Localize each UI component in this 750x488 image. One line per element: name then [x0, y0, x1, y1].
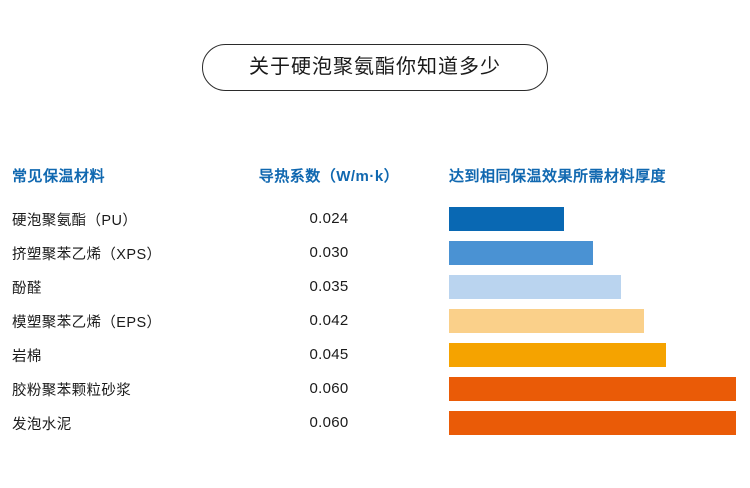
thickness-bar — [449, 411, 736, 435]
column-header-material: 常见保温材料 — [12, 168, 105, 185]
cell-material-name: 发泡水泥 — [0, 413, 220, 434]
material-label: 发泡水泥 — [12, 417, 72, 433]
bar-track — [449, 275, 750, 299]
cell-material-name: 胶粉聚苯颗粒砂浆 — [0, 379, 220, 400]
column-header-thickness: 达到相同保温效果所需材料厚度 — [449, 168, 666, 185]
cell-conductivity-value: 0.035 — [220, 278, 438, 296]
table-row: 酚醛0.035 — [0, 270, 750, 304]
thickness-bar — [449, 343, 666, 367]
cell-conductivity-value: 0.045 — [220, 346, 438, 364]
material-label: 挤塑聚苯乙烯（XPS） — [12, 247, 161, 263]
cell-thickness-bar — [438, 207, 750, 231]
thickness-bar — [449, 309, 644, 333]
table-header-row: 常见保温材料 导热系数（W/m·k） 达到相同保温效果所需材料厚度 — [0, 152, 750, 186]
conductivity-value: 0.035 — [309, 278, 348, 295]
bar-track — [449, 343, 750, 367]
table-row: 硬泡聚氨酯（PU）0.024 — [0, 202, 750, 236]
material-label: 模塑聚苯乙烯（EPS） — [12, 315, 161, 331]
table-row: 岩棉0.045 — [0, 338, 750, 372]
bar-track — [449, 377, 750, 401]
thickness-bar — [449, 377, 736, 401]
bar-track — [449, 309, 750, 333]
cell-thickness-bar — [438, 309, 750, 333]
cell-material-name: 挤塑聚苯乙烯（XPS） — [0, 243, 220, 264]
table-body: 硬泡聚氨酯（PU）0.024挤塑聚苯乙烯（XPS）0.030酚醛0.035模塑聚… — [0, 202, 750, 440]
conductivity-value: 0.024 — [309, 210, 348, 227]
material-label: 硬泡聚氨酯（PU） — [12, 213, 137, 229]
cell-thickness-bar — [438, 343, 750, 367]
cell-conductivity-value: 0.042 — [220, 312, 438, 330]
cell-thickness-bar — [438, 241, 750, 265]
conductivity-value: 0.060 — [309, 414, 348, 431]
cell-conductivity-value: 0.024 — [220, 210, 438, 228]
bar-track — [449, 207, 750, 231]
cell-material-name: 酚醛 — [0, 277, 220, 298]
table-row: 发泡水泥0.060 — [0, 406, 750, 440]
insulation-comparison-table: 常见保温材料 导热系数（W/m·k） 达到相同保温效果所需材料厚度 硬泡聚氨酯（… — [0, 152, 750, 440]
cell-thickness-bar — [438, 411, 750, 435]
table-row: 挤塑聚苯乙烯（XPS）0.030 — [0, 236, 750, 270]
material-label: 胶粉聚苯颗粒砂浆 — [12, 383, 131, 399]
column-header-conductivity: 导热系数（W/m·k） — [259, 168, 400, 185]
material-label: 酚醛 — [12, 281, 42, 297]
cell-conductivity-value: 0.060 — [220, 414, 438, 432]
cell-thickness-bar — [438, 275, 750, 299]
thickness-bar — [449, 207, 564, 231]
cell-material-name: 岩棉 — [0, 345, 220, 366]
cell-thickness-bar — [438, 377, 750, 401]
thickness-bar — [449, 241, 593, 265]
title-banner: 关于硬泡聚氨酯你知道多少 — [0, 44, 750, 91]
thickness-bar — [449, 275, 621, 299]
material-label: 岩棉 — [12, 349, 42, 365]
bar-track — [449, 411, 750, 435]
cell-material-name: 模塑聚苯乙烯（EPS） — [0, 311, 220, 332]
cell-conductivity-value: 0.030 — [220, 244, 438, 262]
cell-conductivity-value: 0.060 — [220, 380, 438, 398]
bar-track — [449, 241, 750, 265]
table-row: 胶粉聚苯颗粒砂浆0.060 — [0, 372, 750, 406]
conductivity-value: 0.030 — [309, 244, 348, 261]
table-row: 模塑聚苯乙烯（EPS）0.042 — [0, 304, 750, 338]
conductivity-value: 0.042 — [309, 312, 348, 329]
page-title: 关于硬泡聚氨酯你知道多少 — [202, 44, 548, 91]
cell-material-name: 硬泡聚氨酯（PU） — [0, 209, 220, 230]
conductivity-value: 0.060 — [309, 380, 348, 397]
conductivity-value: 0.045 — [309, 346, 348, 363]
